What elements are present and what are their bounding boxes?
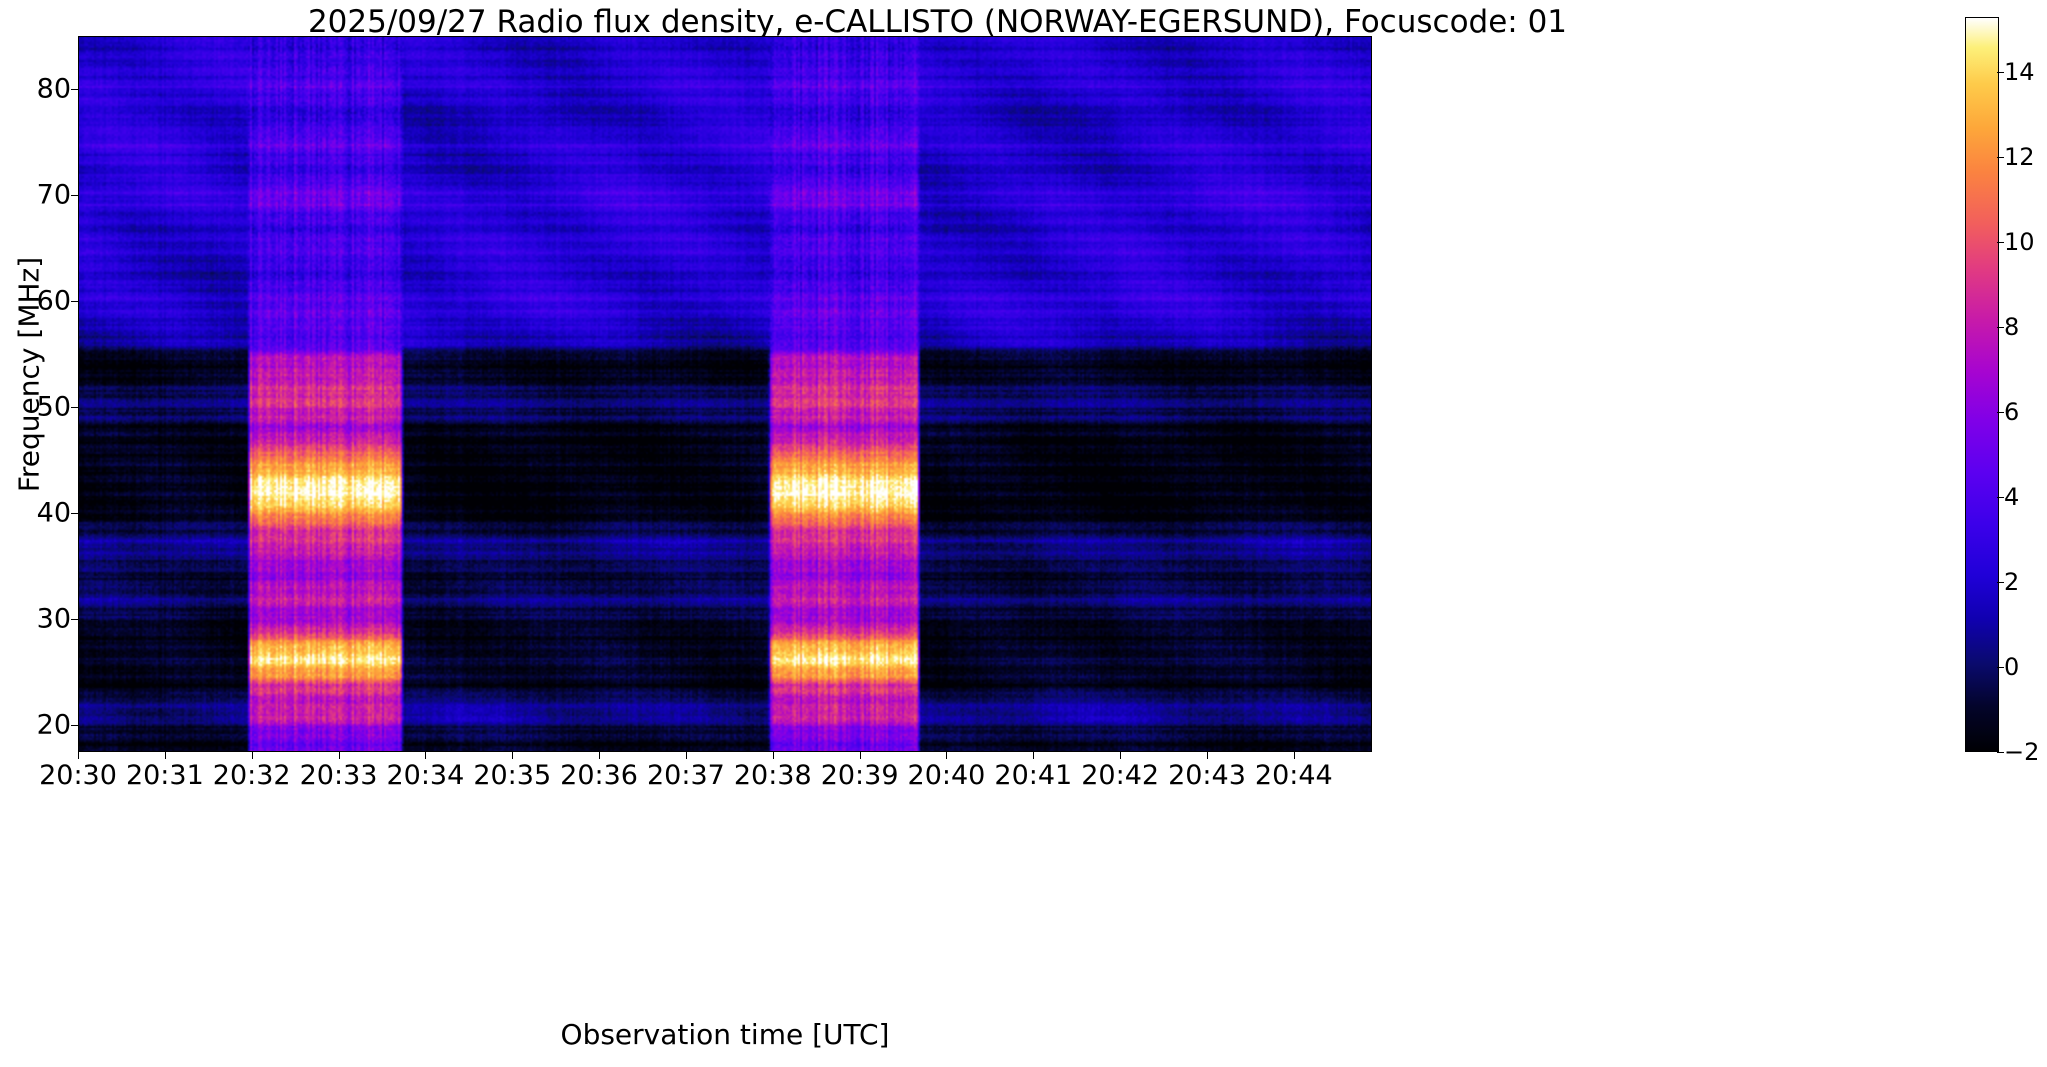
y-tick-mark	[71, 513, 78, 514]
x-tick-label: 20:33	[300, 760, 378, 791]
x-tick-label: 20:31	[126, 760, 204, 791]
colorbar-tick-label: −2	[2004, 738, 2039, 766]
x-tick-mark	[425, 752, 426, 759]
colorbar-tick-label: 12	[2004, 143, 2035, 171]
colorbar-tick-label: 10	[2004, 228, 2035, 256]
x-tick-mark	[1033, 752, 1034, 759]
x-tick-label: 20:32	[213, 760, 291, 791]
spectrogram-figure: 2025/09/27 Radio flux density, e-CALLIST…	[0, 0, 2047, 1067]
x-tick-mark	[1207, 752, 1208, 759]
x-tick-label: 20:43	[1168, 760, 1246, 791]
y-tick-mark	[71, 725, 78, 726]
y-tick-mark	[71, 89, 78, 90]
colorbar-tick-mark	[1997, 667, 2004, 668]
colorbar-tick-mark	[1997, 752, 2004, 753]
colorbar-tick-mark	[1997, 412, 2004, 413]
x-tick-label: 20:30	[39, 760, 117, 791]
x-tick-mark	[252, 752, 253, 759]
y-tick-label: 20	[37, 710, 71, 741]
x-tick-label: 20:35	[473, 760, 551, 791]
x-tick-label: 20:41	[994, 760, 1072, 791]
x-tick-mark	[686, 752, 687, 759]
x-tick-mark	[946, 752, 947, 759]
x-axis-label: Observation time [UTC]	[78, 1018, 1372, 1051]
x-tick-label: 20:38	[734, 760, 812, 791]
x-tick-label: 20:44	[1255, 760, 1333, 791]
x-tick-mark	[339, 752, 340, 759]
y-tick-mark	[71, 195, 78, 196]
colorbar-tick-label: 8	[2004, 313, 2019, 341]
x-tick-label: 20:39	[821, 760, 899, 791]
colorbar-tick-mark	[1997, 157, 2004, 158]
x-tick-mark	[860, 752, 861, 759]
y-tick-mark	[71, 407, 78, 408]
x-tick-mark	[165, 752, 166, 759]
colorbar-tick-mark	[1997, 72, 2004, 73]
spectrogram-image	[78, 36, 1372, 752]
y-tick-mark	[71, 301, 78, 302]
colorbar-tick-mark	[1997, 327, 2004, 328]
figure-title: 2025/09/27 Radio flux density, e-CALLIST…	[0, 4, 1875, 40]
colorbar-tick-label: 6	[2004, 398, 2019, 426]
x-tick-mark	[773, 752, 774, 759]
x-tick-mark	[1294, 752, 1295, 759]
y-tick-marks	[71, 0, 79, 1067]
x-tick-label: 20:40	[908, 760, 986, 791]
x-tick-label: 20:42	[1081, 760, 1159, 791]
x-tick-mark	[599, 752, 600, 759]
x-tick-mark	[78, 752, 79, 759]
y-tick-mark	[71, 619, 78, 620]
colorbar-tick-mark	[1997, 242, 2004, 243]
x-tick-label: 20:34	[386, 760, 464, 791]
x-tick-label: 20:37	[647, 760, 725, 791]
colorbar-tick-mark	[1997, 582, 2004, 583]
x-tick-mark	[512, 752, 513, 759]
colorbar	[1965, 17, 1999, 752]
spectrogram-plot-area	[78, 36, 1372, 752]
colorbar-tick-label: 0	[2004, 653, 2019, 681]
colorbar-tick-mark	[1997, 497, 2004, 498]
colorbar-tick-label: 4	[2004, 483, 2019, 511]
x-tick-label: 20:36	[560, 760, 638, 791]
colorbar-tick-label: 2	[2004, 568, 2019, 596]
x-tick-mark	[1120, 752, 1121, 759]
y-axis-label: Frequency [MHz]	[13, 55, 46, 695]
colorbar-tick-label: 14	[2004, 58, 2035, 86]
